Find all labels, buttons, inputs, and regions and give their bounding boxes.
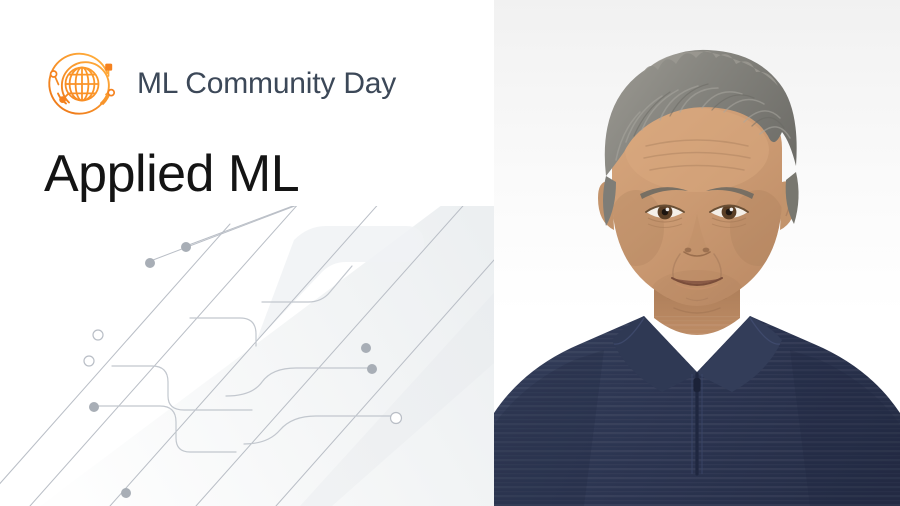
circuit-network-pattern-icon [0,206,494,506]
brand-wordmark: ML Community Day [137,69,396,99]
left-content-panel: ML Community Day Applied ML [0,0,494,506]
brand-lockup: ML Community Day [44,46,396,122]
presentation-slide: ML Community Day Applied ML [0,0,900,506]
slide-title: Applied ML [44,145,299,205]
speaker-photo [494,0,900,506]
globe-orbit-logo-icon [44,46,120,122]
